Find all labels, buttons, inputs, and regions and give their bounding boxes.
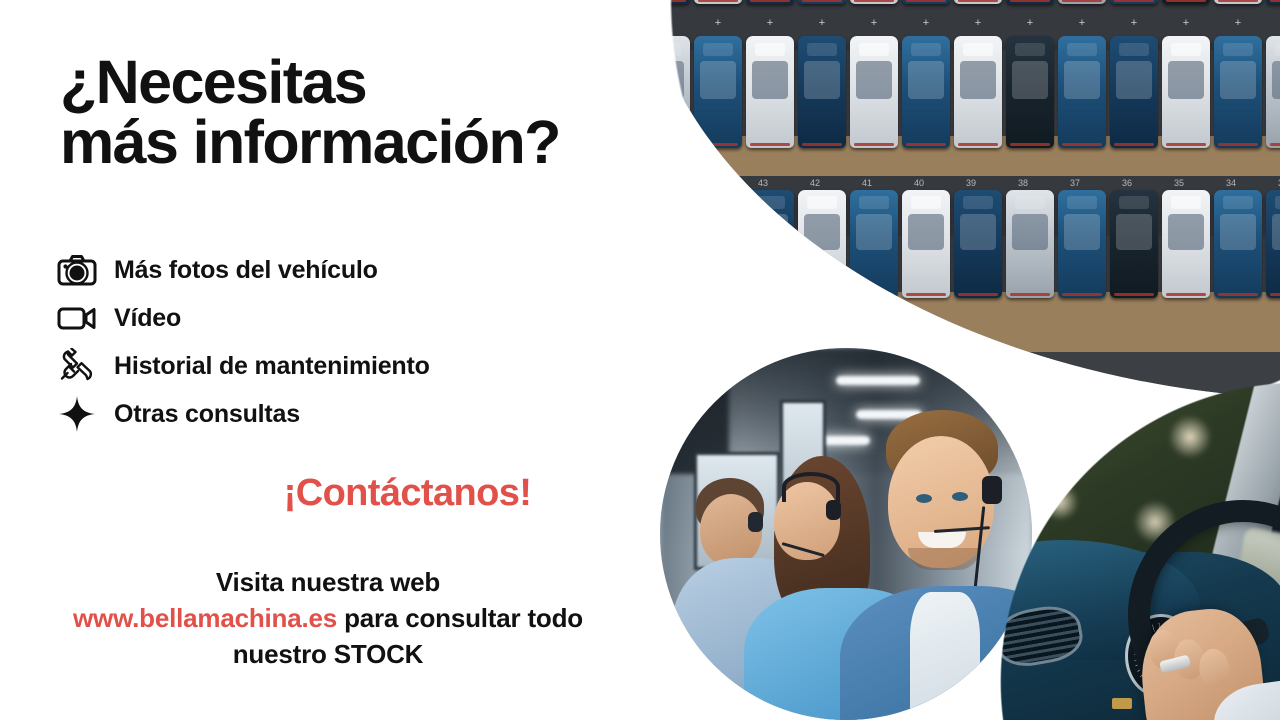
eye xyxy=(916,494,932,503)
website-line-1: Visita nuestra web xyxy=(0,565,656,601)
car xyxy=(1006,36,1054,148)
knuckle xyxy=(1197,647,1231,690)
website-url[interactable]: www.bellamachina.es xyxy=(73,603,337,633)
car xyxy=(798,36,846,148)
website-block: Visita nuestra web www.bellamachina.es p… xyxy=(0,565,656,673)
car-row xyxy=(640,0,1280,4)
list-item-label: Más fotos del vehículo xyxy=(114,256,378,285)
tshirt xyxy=(910,592,980,720)
headset-earpiece-icon xyxy=(982,476,1002,504)
car xyxy=(1266,0,1280,4)
car xyxy=(694,0,742,4)
ceiling-light xyxy=(836,376,920,385)
car xyxy=(746,36,794,148)
car xyxy=(954,190,1002,298)
website-line-3: nuestro STOCK xyxy=(0,637,656,673)
lot-stall-numbers: 454443424140 39383736353433 xyxy=(640,176,1280,190)
car xyxy=(798,190,846,298)
wrench-hand-icon xyxy=(54,346,100,386)
list-item-video: Vídeo xyxy=(54,298,430,338)
car xyxy=(1266,36,1280,148)
car xyxy=(746,190,794,298)
lot-plus-marks: ++++++ +++++++ xyxy=(640,16,1280,30)
car xyxy=(1162,36,1210,148)
video-camera-icon xyxy=(54,298,100,338)
car xyxy=(1110,190,1158,298)
car-interior-artwork xyxy=(1000,382,1280,720)
car xyxy=(1162,190,1210,298)
car xyxy=(902,36,950,148)
car-row xyxy=(640,36,1280,148)
car xyxy=(1214,0,1262,4)
beard xyxy=(908,548,980,570)
website-line-2-rest: para consultar todo xyxy=(337,603,583,633)
list-item-otras-consultas: Otras consultas xyxy=(54,394,430,434)
car xyxy=(1110,36,1158,148)
contact-cta[interactable]: ¡Contáctanos! xyxy=(0,472,660,515)
car xyxy=(850,36,898,148)
car xyxy=(902,0,950,4)
car xyxy=(954,36,1002,148)
list-item-label: Otras consultas xyxy=(114,400,300,429)
car xyxy=(1058,190,1106,298)
sparkle-icon xyxy=(54,394,100,434)
headset-earpiece-icon xyxy=(826,500,841,520)
call-center-team-photo xyxy=(660,348,1032,720)
car xyxy=(1266,190,1280,298)
eye xyxy=(952,492,968,501)
car xyxy=(642,190,690,298)
car xyxy=(1162,0,1210,4)
car-row xyxy=(640,190,1280,298)
call-center-artwork xyxy=(660,348,1032,720)
list-item-label: Vídeo xyxy=(114,304,181,333)
car xyxy=(1006,0,1054,4)
aerial-car-lot-photo: ++++++ +++++++ xyxy=(640,0,1280,400)
car xyxy=(642,0,690,4)
car xyxy=(694,36,742,148)
car xyxy=(1058,0,1106,4)
car xyxy=(694,190,742,298)
car xyxy=(902,190,950,298)
list-item-mas-fotos: Más fotos del vehículo xyxy=(54,250,430,290)
car xyxy=(798,0,846,4)
list-item-historial: Historial de mantenimiento xyxy=(54,346,430,386)
list-item-label: Historial de mantenimiento xyxy=(114,352,430,381)
driving-car-interior-photo xyxy=(1000,382,1280,720)
page-title: ¿Necesitas más información? xyxy=(60,52,560,173)
car xyxy=(1214,36,1262,148)
car xyxy=(642,36,690,148)
car xyxy=(954,0,1002,4)
website-line-2: www.bellamachina.es para consultar todo xyxy=(0,601,656,637)
car xyxy=(850,0,898,4)
feature-list: Más fotos del vehículo Vídeo xyxy=(54,250,430,434)
car xyxy=(746,0,794,4)
poster-canvas: ++++++ +++++++ xyxy=(0,0,1280,720)
car xyxy=(1058,36,1106,148)
car xyxy=(1214,190,1262,298)
car xyxy=(1110,0,1158,4)
car-lot-artwork: ++++++ +++++++ xyxy=(640,0,1280,400)
car xyxy=(1006,190,1054,298)
dash-badge xyxy=(1112,698,1132,709)
camera-icon xyxy=(54,250,100,290)
car xyxy=(850,190,898,298)
headset-band-icon xyxy=(782,472,840,502)
